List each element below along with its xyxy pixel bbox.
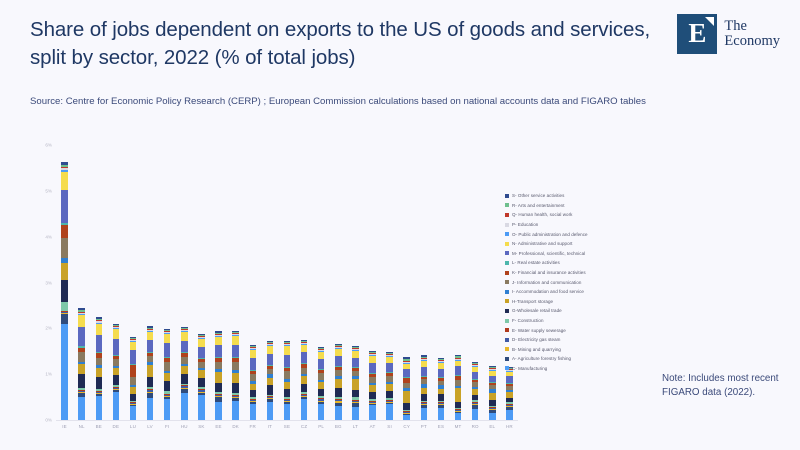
stacked-bar[interactable] bbox=[181, 327, 188, 420]
legend-item[interactable]: Q- Human health, social work bbox=[505, 210, 655, 220]
x-axis-tick-label: FI bbox=[165, 424, 169, 429]
bar-segment-A[interactable] bbox=[61, 314, 68, 324]
bar-segment-C[interactable] bbox=[250, 404, 257, 421]
bar-segment-C[interactable] bbox=[455, 413, 462, 420]
bar-column[interactable]: IE bbox=[56, 145, 73, 420]
legend-item[interactable]: P- Education bbox=[505, 220, 655, 230]
legend-label: B- Mining and quarrying bbox=[512, 347, 561, 352]
x-axis-tick-label: LT bbox=[353, 424, 358, 429]
bar-segment-M[interactable] bbox=[421, 367, 428, 375]
legend-swatch-icon bbox=[505, 261, 509, 265]
stacked-bar[interactable] bbox=[232, 331, 239, 420]
bar-segment-G[interactable] bbox=[335, 388, 342, 396]
bar-column[interactable]: MT bbox=[450, 145, 467, 420]
legend-label: M- Professional, scientific, technical bbox=[512, 251, 585, 256]
bar-segment-M[interactable] bbox=[130, 350, 137, 364]
legend-label: P- Education bbox=[512, 222, 538, 227]
x-axis-tick-label: RO bbox=[472, 424, 479, 429]
x-axis-tick-label: IE bbox=[62, 424, 67, 429]
legend-item[interactable]: C- Manufacturing bbox=[505, 364, 655, 374]
bar-column[interactable]: ES bbox=[432, 145, 449, 420]
bar-segment-N[interactable] bbox=[318, 352, 325, 359]
y-axis-tick: 4% bbox=[30, 234, 52, 239]
x-axis-tick-label: DE bbox=[113, 424, 120, 429]
bar-segment-M[interactable] bbox=[198, 347, 205, 358]
bar-segment-K[interactable] bbox=[130, 365, 137, 377]
x-axis-line bbox=[56, 420, 518, 421]
bar-segment-J[interactable] bbox=[181, 357, 188, 364]
logo-line-2: Economy bbox=[724, 34, 780, 49]
bar-segment-G[interactable] bbox=[113, 375, 120, 385]
bar-segment-H[interactable] bbox=[78, 364, 85, 374]
legend-label: E- Water supply sewerage bbox=[512, 328, 566, 333]
bar-segment-C[interactable] bbox=[147, 398, 154, 420]
bar-segment-N[interactable] bbox=[130, 342, 137, 350]
legend-label: J- Information and communication bbox=[512, 280, 581, 285]
bar-segment-G[interactable] bbox=[301, 384, 308, 392]
bar-segment-M[interactable] bbox=[352, 358, 359, 367]
stacked-bar[interactable] bbox=[386, 352, 393, 420]
legend-item[interactable]: I- Accommodation and food service bbox=[505, 287, 655, 297]
bar-segment-H[interactable] bbox=[455, 388, 462, 402]
legend-swatch-icon bbox=[505, 299, 509, 303]
bar-segment-J[interactable] bbox=[61, 238, 68, 259]
legend-label: S- Other service activities bbox=[512, 193, 564, 198]
logo-mark-icon: E bbox=[677, 14, 717, 54]
stacked-bar[interactable] bbox=[421, 355, 428, 420]
bar-segment-M[interactable] bbox=[438, 369, 445, 377]
stacked-bar[interactable] bbox=[147, 326, 154, 420]
bar-segment-N[interactable] bbox=[113, 329, 120, 339]
legend-swatch-icon bbox=[505, 309, 509, 313]
x-axis-tick-label: FR bbox=[250, 424, 256, 429]
legend-swatch-icon bbox=[505, 203, 509, 207]
bar-series-container: IENLBEDELULVFIHUSKEEDKFRITSECZPLBGLTATSI… bbox=[56, 145, 518, 420]
bar-segment-M[interactable] bbox=[386, 363, 393, 372]
legend-swatch-icon bbox=[505, 290, 509, 294]
legend-label: N- Administrative and support bbox=[512, 241, 572, 246]
logo-wordmark: The Economy bbox=[724, 19, 780, 49]
bar-segment-J[interactable] bbox=[78, 352, 85, 361]
bar-segment-M[interactable] bbox=[318, 359, 325, 369]
stacked-bar[interactable] bbox=[164, 329, 171, 420]
x-axis-tick-label: MT bbox=[455, 424, 462, 429]
y-axis-tick: 1% bbox=[30, 372, 52, 377]
page-title: Share of jobs dependent on exports to th… bbox=[30, 16, 670, 72]
legend-item[interactable]: N- Administrative and support bbox=[505, 239, 655, 249]
bar-segment-M[interactable] bbox=[147, 340, 154, 352]
stacked-bar[interactable] bbox=[403, 357, 410, 420]
legend-label: L- Real estate activities bbox=[512, 260, 560, 265]
bar-segment-M[interactable] bbox=[96, 335, 103, 352]
bar-segment-C[interactable] bbox=[335, 406, 342, 420]
stacked-bar[interactable] bbox=[198, 334, 205, 420]
bar-column[interactable]: SE bbox=[278, 145, 295, 420]
bar-segment-M[interactable] bbox=[61, 190, 68, 223]
stacked-bar[interactable] bbox=[61, 162, 68, 420]
legend-item[interactable]: J- Information and communication bbox=[505, 277, 655, 287]
stacked-bar[interactable] bbox=[130, 337, 137, 420]
logo-line-1: The bbox=[724, 19, 780, 34]
bar-segment-M[interactable] bbox=[301, 352, 308, 363]
bar-column[interactable]: PL bbox=[313, 145, 330, 420]
bar-segment-C[interactable] bbox=[386, 404, 393, 420]
x-axis-tick-label: CY bbox=[403, 424, 410, 429]
bar-segment-C[interactable] bbox=[96, 396, 103, 420]
bar-column[interactable]: FI bbox=[159, 145, 176, 420]
bar-segment-J[interactable] bbox=[164, 362, 171, 371]
x-axis-tick-label: BG bbox=[335, 424, 342, 429]
bar-segment-G[interactable] bbox=[369, 392, 376, 399]
bar-column[interactable]: BE bbox=[90, 145, 107, 420]
bar-column[interactable]: DK bbox=[227, 145, 244, 420]
x-axis-tick-label: LV bbox=[147, 424, 153, 429]
legend-item[interactable]: G-Wholesale retail trade bbox=[505, 306, 655, 316]
bar-column[interactable]: EE bbox=[210, 145, 227, 420]
slide-canvas: Share of jobs dependent on exports to th… bbox=[0, 0, 800, 450]
bar-segment-M[interactable] bbox=[455, 366, 462, 374]
stacked-bar[interactable] bbox=[113, 324, 120, 420]
source-caption: Source: Centre for Economic Policy Resea… bbox=[30, 95, 720, 109]
bar-column[interactable]: HU bbox=[176, 145, 193, 420]
y-axis-tick: 3% bbox=[30, 280, 52, 285]
bar-segment-G[interactable] bbox=[61, 280, 68, 302]
legend-item[interactable]: L- Real estate activities bbox=[505, 258, 655, 268]
bar-segment-N[interactable] bbox=[250, 350, 257, 358]
legend-label: O- Public administration and defence bbox=[512, 232, 588, 237]
bar-segment-G[interactable] bbox=[181, 374, 188, 383]
legend-swatch-icon bbox=[505, 366, 509, 370]
legend-swatch-icon bbox=[505, 213, 509, 217]
bar-segment-H[interactable] bbox=[215, 372, 222, 383]
bar-segment-N[interactable] bbox=[78, 315, 85, 327]
stacked-bar[interactable] bbox=[301, 340, 308, 420]
stacked-bar[interactable] bbox=[455, 355, 462, 420]
bar-segment-N[interactable] bbox=[96, 324, 103, 335]
bar-segment-M[interactable] bbox=[335, 356, 342, 366]
legend-item[interactable]: O- Public administration and defence bbox=[505, 229, 655, 239]
bar-segment-N[interactable] bbox=[181, 332, 188, 340]
bar-column[interactable]: LV bbox=[142, 145, 159, 420]
x-axis-tick-label: ES bbox=[438, 424, 444, 429]
x-axis-tick-label: HU bbox=[181, 424, 188, 429]
bar-segment-N[interactable] bbox=[232, 336, 239, 344]
legend-swatch-icon bbox=[505, 271, 509, 275]
bar-segment-C[interactable] bbox=[267, 402, 274, 420]
x-axis-tick-label: SE bbox=[284, 424, 290, 429]
legend-label: I- Accommodation and food service bbox=[512, 289, 584, 294]
x-axis-tick-label: PT bbox=[421, 424, 427, 429]
bar-segment-C[interactable] bbox=[113, 392, 120, 420]
bar-segment-H[interactable] bbox=[267, 378, 274, 385]
bar-segment-M[interactable] bbox=[113, 339, 120, 355]
bar-segment-N[interactable] bbox=[301, 345, 308, 352]
bar-segment-N[interactable] bbox=[369, 356, 376, 363]
bar-segment-C[interactable] bbox=[284, 404, 291, 421]
bar-column[interactable]: IT bbox=[261, 145, 278, 420]
legend-label: C- Manufacturing bbox=[512, 366, 547, 371]
legend-label: R- Arts and entertainment bbox=[512, 203, 565, 208]
bar-segment-H[interactable] bbox=[489, 393, 496, 400]
stacked-bar[interactable] bbox=[250, 345, 257, 420]
y-axis-tick: 2% bbox=[30, 326, 52, 331]
bar-segment-N[interactable] bbox=[147, 332, 154, 340]
bar-segment-G[interactable] bbox=[96, 377, 103, 389]
bar-segment-M[interactable] bbox=[215, 345, 222, 357]
stacked-bar[interactable] bbox=[267, 341, 274, 420]
slide-header: Share of jobs dependent on exports to th… bbox=[0, 0, 800, 88]
bar-segment-G[interactable] bbox=[284, 389, 291, 397]
legend-label: A- Agriculture forestry fishing bbox=[512, 356, 571, 361]
bar-segment-J[interactable] bbox=[284, 371, 291, 379]
legend-item[interactable]: M- Professional, scientific, technical bbox=[505, 249, 655, 259]
stacked-bar[interactable] bbox=[506, 367, 513, 420]
bar-segment-H[interactable] bbox=[301, 376, 308, 383]
stacked-bar-chart: 6%5%4%3%2%1%0% IENLBEDELULVFIHUSKEEDKFRI… bbox=[30, 140, 530, 440]
bar-segment-N[interactable] bbox=[61, 172, 68, 190]
bar-segment-M[interactable] bbox=[403, 369, 410, 377]
bar-column[interactable]: SK bbox=[193, 145, 210, 420]
bar-segment-G[interactable] bbox=[215, 383, 222, 392]
bar-segment-G[interactable] bbox=[147, 377, 154, 387]
x-axis-tick-label: SK bbox=[198, 424, 204, 429]
bar-segment-C[interactable] bbox=[301, 399, 308, 420]
bar-segment-H[interactable] bbox=[352, 379, 359, 390]
bar-segment-N[interactable] bbox=[215, 337, 222, 345]
bar-segment-C[interactable] bbox=[438, 408, 445, 420]
bar-segment-N[interactable] bbox=[267, 346, 274, 353]
bar-segment-C[interactable] bbox=[489, 413, 496, 420]
x-axis-tick-label: NL bbox=[79, 424, 85, 429]
brand-logo: E The Economy bbox=[677, 14, 780, 54]
bar-segment-C[interactable] bbox=[506, 410, 513, 420]
bar-segment-H[interactable] bbox=[96, 368, 103, 377]
bar-segment-H[interactable] bbox=[232, 373, 239, 383]
bar-segment-H[interactable] bbox=[61, 263, 68, 280]
bar-segment-G[interactable] bbox=[232, 383, 239, 393]
bar-segment-N[interactable] bbox=[198, 339, 205, 347]
x-axis-tick-label: BE bbox=[96, 424, 102, 429]
bar-column[interactable]: BG bbox=[330, 145, 347, 420]
bar-segment-C[interactable] bbox=[421, 408, 428, 420]
bar-segment-H[interactable] bbox=[181, 366, 188, 374]
bar-segment-J[interactable] bbox=[215, 362, 222, 369]
bar-segment-G[interactable] bbox=[250, 390, 257, 397]
bar-segment-C[interactable] bbox=[164, 399, 171, 420]
x-axis-tick-label: EE bbox=[215, 424, 221, 429]
bar-segment-C[interactable] bbox=[318, 404, 325, 420]
bar-segment-C[interactable] bbox=[181, 393, 188, 421]
bar-segment-M[interactable] bbox=[232, 345, 239, 358]
bar-column[interactable]: PT bbox=[415, 145, 432, 420]
legend-label: Q- Human health, social work bbox=[512, 212, 572, 217]
stacked-bar[interactable] bbox=[335, 344, 342, 420]
stacked-bar[interactable] bbox=[318, 347, 325, 420]
bar-segment-C[interactable] bbox=[130, 406, 137, 420]
bar-segment-G[interactable] bbox=[164, 381, 171, 391]
x-axis-tick-label: HR bbox=[506, 424, 513, 429]
bar-segment-H[interactable] bbox=[403, 391, 410, 403]
legend-item[interactable]: E- Water supply sewerage bbox=[505, 325, 655, 335]
bar-column[interactable]: SI bbox=[381, 145, 398, 420]
bar-segment-G[interactable] bbox=[130, 394, 137, 401]
legend-swatch-icon bbox=[505, 232, 509, 236]
stacked-bar[interactable] bbox=[78, 308, 85, 420]
legend-item[interactable]: D- Electricity gas steam bbox=[505, 335, 655, 345]
stacked-bar[interactable] bbox=[352, 346, 359, 420]
stacked-bar[interactable] bbox=[489, 366, 496, 420]
bar-segment-N[interactable] bbox=[284, 346, 291, 354]
bar-segment-M[interactable] bbox=[472, 372, 479, 379]
legend-label: F- Construction bbox=[512, 318, 544, 323]
bar-segment-M[interactable] bbox=[267, 354, 274, 365]
x-axis-tick-label: LU bbox=[130, 424, 136, 429]
bar-segment-H[interactable] bbox=[147, 365, 154, 377]
stacked-bar[interactable] bbox=[284, 341, 291, 420]
bar-segment-G[interactable] bbox=[352, 390, 359, 397]
bar-segment-H[interactable] bbox=[164, 373, 171, 381]
legend-label: G-Wholesale retail trade bbox=[512, 308, 562, 313]
legend-swatch-icon bbox=[505, 319, 509, 323]
x-axis-tick-label: PL bbox=[318, 424, 324, 429]
stacked-bar[interactable] bbox=[369, 351, 376, 420]
bar-column[interactable]: CY bbox=[398, 145, 415, 420]
bar-segment-J[interactable] bbox=[232, 362, 239, 370]
bar-segment-C[interactable] bbox=[215, 402, 222, 420]
legend-swatch-icon bbox=[505, 328, 509, 332]
y-axis-tick: 0% bbox=[30, 418, 52, 423]
bar-segment-M[interactable] bbox=[181, 341, 188, 353]
bar-segment-G[interactable] bbox=[318, 389, 325, 396]
bar-segment-C[interactable] bbox=[369, 405, 376, 420]
legend-swatch-icon bbox=[505, 242, 509, 246]
legend-item[interactable]: R- Arts and entertainment bbox=[505, 201, 655, 211]
bar-segment-J[interactable] bbox=[130, 377, 137, 385]
legend-label: D- Electricity gas steam bbox=[512, 337, 560, 342]
bar-segment-M[interactable] bbox=[369, 363, 376, 373]
bar-segment-J[interactable] bbox=[96, 358, 103, 365]
bar-segment-H[interactable] bbox=[198, 370, 205, 378]
bar-segment-K[interactable] bbox=[61, 225, 68, 238]
legend-swatch-icon bbox=[505, 280, 509, 284]
legend-swatch-icon bbox=[505, 338, 509, 342]
bar-segment-C[interactable] bbox=[198, 395, 205, 420]
legend-item[interactable]: K- Financial and insurance activities bbox=[505, 268, 655, 278]
legend-swatch-icon bbox=[505, 251, 509, 255]
bar-segment-M[interactable] bbox=[164, 343, 171, 357]
stacked-bar[interactable] bbox=[96, 317, 103, 420]
bar-segment-H[interactable] bbox=[113, 368, 120, 375]
bar-segment-M[interactable] bbox=[250, 358, 257, 370]
legend-item[interactable]: S- Other service activities bbox=[505, 191, 655, 201]
bar-segment-C[interactable] bbox=[61, 324, 68, 420]
chart-legend: S- Other service activitiesR- Arts and e… bbox=[505, 191, 655, 373]
bar-column[interactable]: AT bbox=[364, 145, 381, 420]
bar-segment-C[interactable] bbox=[352, 407, 359, 420]
y-axis-tick: 5% bbox=[30, 188, 52, 193]
legend-swatch-icon bbox=[505, 347, 509, 351]
bar-segment-C[interactable] bbox=[232, 401, 239, 420]
bar-segment-N[interactable] bbox=[164, 334, 171, 343]
legend-label: K- Financial and insurance activities bbox=[512, 270, 586, 275]
y-axis-tick: 6% bbox=[30, 143, 52, 148]
legend-item[interactable]: H-Transport storage bbox=[505, 297, 655, 307]
legend-item[interactable]: F- Construction bbox=[505, 316, 655, 326]
chart-plot-area: 6%5%4%3%2%1%0% IENLBEDELULVFIHUSKEEDKFRI… bbox=[56, 145, 518, 420]
stacked-bar[interactable] bbox=[438, 358, 445, 420]
bar-segment-M[interactable] bbox=[78, 327, 85, 346]
legend-swatch-icon bbox=[505, 223, 509, 227]
bar-column[interactable]: NL bbox=[73, 145, 90, 420]
legend-label: H-Transport storage bbox=[512, 299, 553, 304]
x-axis-tick-label: AT bbox=[370, 424, 376, 429]
stacked-bar[interactable] bbox=[215, 331, 222, 420]
legend-item[interactable]: A- Agriculture forestry fishing bbox=[505, 354, 655, 364]
x-axis-tick-label: DK bbox=[232, 424, 239, 429]
bar-column[interactable]: EL bbox=[484, 145, 501, 420]
bar-segment-G[interactable] bbox=[386, 391, 393, 398]
bar-segment-H[interactable] bbox=[284, 382, 291, 389]
bar-column[interactable]: LU bbox=[124, 145, 141, 420]
bar-column[interactable]: DE bbox=[107, 145, 124, 420]
x-axis-tick-label: EL bbox=[489, 424, 495, 429]
x-axis-tick-label: IT bbox=[268, 424, 272, 429]
bar-segment-H[interactable] bbox=[318, 382, 325, 389]
bar-segment-C[interactable] bbox=[472, 409, 479, 420]
bar-column[interactable]: LT bbox=[347, 145, 364, 420]
bar-segment-H[interactable] bbox=[335, 379, 342, 388]
x-axis-tick-label: CZ bbox=[301, 424, 307, 429]
legend-swatch-icon bbox=[505, 194, 509, 198]
bar-segment-G[interactable] bbox=[198, 378, 205, 387]
bar-segment-G[interactable] bbox=[78, 374, 85, 388]
bar-segment-M[interactable] bbox=[284, 355, 291, 367]
legend-swatch-icon bbox=[505, 357, 509, 361]
stacked-bar[interactable] bbox=[472, 362, 479, 420]
logo-letter: E bbox=[688, 20, 706, 49]
bar-column[interactable]: RO bbox=[467, 145, 484, 420]
note-caption: Note: Includes most recent FIGARO data (… bbox=[662, 372, 792, 400]
x-axis-tick-label: SI bbox=[387, 424, 392, 429]
bar-segment-F[interactable] bbox=[61, 302, 68, 311]
bar-segment-G[interactable] bbox=[267, 385, 274, 394]
bar-segment-C[interactable] bbox=[78, 397, 85, 420]
bar-column[interactable]: FR bbox=[244, 145, 261, 420]
legend-item[interactable]: B- Mining and quarrying bbox=[505, 345, 655, 355]
bar-column[interactable]: CZ bbox=[296, 145, 313, 420]
